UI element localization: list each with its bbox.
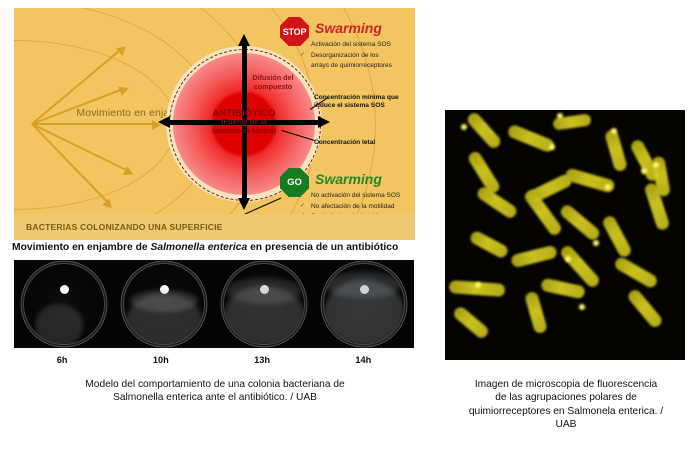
diffusion-label-line2: compuesto bbox=[254, 82, 292, 91]
polar-focus bbox=[653, 162, 659, 168]
annotation-min-concentration: Concentración mínima que induce el siste… bbox=[314, 94, 415, 111]
bacterial-cell bbox=[604, 129, 628, 173]
plate-title-part1: Movimiento en enjambre de bbox=[12, 242, 150, 253]
polar-focus bbox=[475, 282, 481, 288]
caption-right-line1: Imagen de microscopia de fluorescencia bbox=[475, 379, 657, 390]
go-swarming-title: Swarming bbox=[315, 171, 382, 187]
stop-bullet-text: Activación del sistema SOS bbox=[311, 41, 391, 48]
list-item: No afectación de la motilidad bbox=[300, 202, 415, 213]
caption-right-line4: UAB bbox=[556, 419, 577, 430]
caption-right-line3: quimiorreceptores en Salmonela enterica.… bbox=[469, 406, 663, 417]
stop-bullet-text: Desorganización de los bbox=[311, 52, 379, 59]
go-bullet-text: No afectación de la motilidad bbox=[311, 203, 394, 210]
colony-growth-edge bbox=[130, 290, 198, 312]
petri-dish-strip bbox=[14, 260, 414, 348]
plate-timepoint-labels: 6h 10h 13h 14h bbox=[14, 352, 414, 368]
stop-bullet-list: Activación del sistema SOS Desorganizaci… bbox=[300, 40, 415, 72]
list-item: Desorganización de los arrays de quimior… bbox=[300, 51, 415, 72]
timepoint-label: 6h bbox=[57, 355, 68, 365]
polar-focus bbox=[557, 113, 563, 119]
bacterial-cell bbox=[626, 287, 664, 329]
polar-focus bbox=[461, 124, 467, 130]
min-concentration-line2: induce el sistema SOS bbox=[314, 102, 385, 109]
bacterial-cell bbox=[452, 305, 491, 341]
antibiotic-diffusion-diagram: Movimiento en enjambre Difusión del comp… bbox=[14, 8, 415, 240]
diffusion-arrowhead-left bbox=[158, 116, 170, 128]
diffusion-label-line1: Difusión del bbox=[252, 73, 293, 82]
timepoint-label: 10h bbox=[153, 355, 169, 365]
list-item: Activación del sistema SOS bbox=[300, 40, 415, 51]
bacterial-cell bbox=[558, 203, 602, 243]
surface-banner: BACTERIAS COLONIZANDO UNA SUPERFICIE bbox=[14, 214, 415, 240]
polar-focus bbox=[641, 168, 647, 174]
min-concentration-line1: Concentración mínima que bbox=[314, 94, 399, 101]
diffusion-arrowhead-right bbox=[318, 116, 330, 128]
fluorescence-microscopy-image bbox=[445, 110, 685, 360]
left-column: Movimiento en enjambre Difusión del comp… bbox=[0, 0, 420, 450]
bacterial-cell bbox=[601, 214, 633, 259]
timepoint-label: 14h bbox=[355, 355, 371, 365]
caption-left-line1: Modelo del comportamiento de una colonia… bbox=[85, 379, 344, 390]
bacterial-cell bbox=[468, 229, 509, 259]
polar-focus bbox=[565, 256, 571, 262]
diffusion-label: Difusión del compuesto bbox=[236, 74, 310, 91]
bacterial-cell bbox=[540, 278, 586, 300]
petri-dish-10h bbox=[124, 264, 204, 344]
bacterial-cell bbox=[510, 245, 558, 269]
annotation-lethal-concentration: Concentración letal bbox=[314, 139, 415, 147]
plate-title-part2: en presencia de un antibiótico bbox=[247, 242, 398, 253]
surface-banner-text: BACTERIAS COLONIZANDO UNA SUPERFICIE bbox=[14, 222, 223, 232]
polar-focus bbox=[611, 128, 617, 134]
caption-right-line2: de las agrupaciones polares de bbox=[495, 392, 637, 403]
colony-growth-edge bbox=[226, 278, 302, 304]
diffusion-arrowhead-down bbox=[238, 198, 250, 210]
caption-left: Modelo del comportamiento de una colonia… bbox=[20, 378, 410, 405]
diffusion-arrow-down bbox=[242, 126, 247, 200]
petri-dish-13h bbox=[224, 264, 304, 344]
antibiotic-disc bbox=[60, 285, 69, 294]
colony-growth-edge bbox=[324, 272, 402, 298]
plate-strip-title: Movimiento en enjambre de Salmonella ent… bbox=[12, 242, 412, 253]
petri-dish-6h bbox=[24, 264, 104, 344]
plate-title-species: Salmonella enterica bbox=[150, 242, 247, 253]
colony-growth bbox=[35, 304, 83, 344]
diffusion-arrowhead-up bbox=[238, 34, 250, 46]
petri-dish-14h bbox=[324, 264, 404, 344]
stop-bullet-text-cont: arrays de quimiorreceptores bbox=[311, 62, 392, 69]
antibiotic-subtitle-line2: substancia tóxica) bbox=[196, 127, 292, 136]
go-bullet-text: No activación del sistema SOS bbox=[311, 192, 400, 199]
caption-left-line2: Salmonella enterica ante el antibiótico.… bbox=[113, 392, 317, 403]
polar-focus bbox=[579, 304, 585, 310]
polar-focus bbox=[549, 144, 555, 150]
bacterial-cell bbox=[613, 255, 659, 289]
polar-focus bbox=[593, 240, 599, 246]
timepoint-label: 13h bbox=[254, 355, 270, 365]
bacterial-cell bbox=[506, 123, 555, 153]
bacterial-cell bbox=[524, 291, 548, 335]
bacterial-cell bbox=[465, 111, 503, 151]
stop-swarming-title: Swarming bbox=[315, 20, 382, 36]
polar-focus bbox=[605, 184, 611, 190]
caption-right: Imagen de microscopia de fluorescencia d… bbox=[437, 378, 695, 432]
antibiotic-center-label: ANTIBIÓTICO (Fuente de la substancia tóx… bbox=[196, 107, 292, 136]
list-item: No activación del sistema SOS bbox=[300, 191, 415, 202]
